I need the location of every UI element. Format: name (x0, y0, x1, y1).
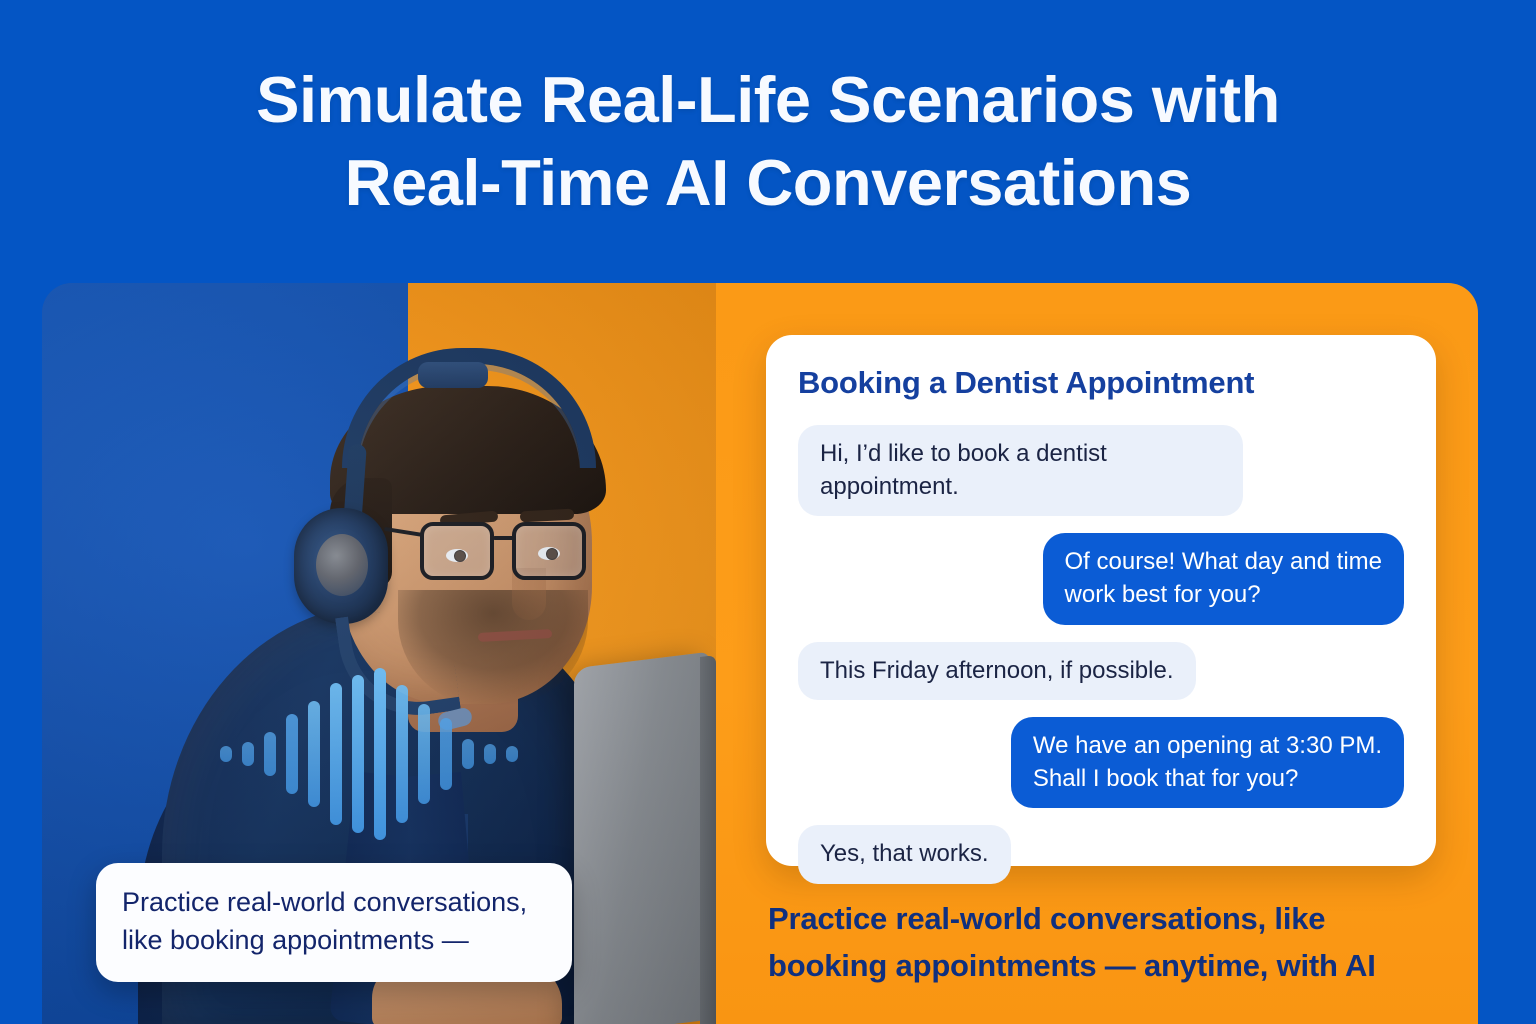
chat-bubble-line: Shall I book that for you? (1033, 765, 1299, 792)
orange-caption: Practice real-world conversations, like … (768, 895, 1458, 989)
chat-row: Yes, that works. (798, 825, 1404, 884)
chat-bubble-user: This Friday afternoon, if possible. (798, 642, 1196, 701)
chat-row: Hi, I’d like to book a dentist appointme… (798, 425, 1404, 516)
content-panels: Practice real-world conversations, like … (42, 283, 1478, 1024)
page-headline: Simulate Real-Life Scenarios with Real-T… (0, 58, 1536, 224)
chat-bubble-line: work best for you? (1065, 581, 1261, 608)
chat-bubble-line: We have an opening at 3:30 PM. (1033, 732, 1382, 759)
orange-caption-line-2: booking appointments — anytime, with AI (768, 942, 1458, 989)
chat-card-title: Booking a Dentist Appointment (798, 365, 1404, 401)
chat-row: We have an opening at 3:30 PM. Shall I b… (798, 717, 1404, 808)
photo-caption-line-2: like booking appointments — (122, 921, 546, 959)
chat-bubble-assistant: Of course! What day and time work best f… (1043, 533, 1404, 624)
chat-row: Of course! What day and time work best f… (798, 533, 1404, 624)
headline-line-1: Simulate Real-Life Scenarios with (256, 63, 1280, 136)
orange-panel: Booking a Dentist Appointment Hi, I’d li… (716, 283, 1478, 1024)
orange-caption-line-1: Practice real-world conversations, like (768, 895, 1458, 942)
chat-bubble-line: Of course! What day and time (1065, 548, 1382, 575)
chat-conversation-card: Booking a Dentist Appointment Hi, I’d li… (766, 335, 1436, 866)
headline-line-2: Real-Time AI Conversations (0, 141, 1536, 224)
chat-bubble-assistant: We have an opening at 3:30 PM. Shall I b… (1011, 717, 1404, 808)
chat-message-list: Hi, I’d like to book a dentist appointme… (798, 425, 1404, 884)
photo-panel: Practice real-world conversations, like … (42, 283, 716, 1024)
chat-bubble-user: Hi, I’d like to book a dentist appointme… (798, 425, 1243, 516)
chat-row: This Friday afternoon, if possible. (798, 642, 1404, 701)
photo-caption-line-1: Practice real-world conversations, (122, 883, 546, 921)
photo-caption-card: Practice real-world conversations, like … (96, 863, 572, 982)
chat-bubble-user: Yes, that works. (798, 825, 1011, 884)
